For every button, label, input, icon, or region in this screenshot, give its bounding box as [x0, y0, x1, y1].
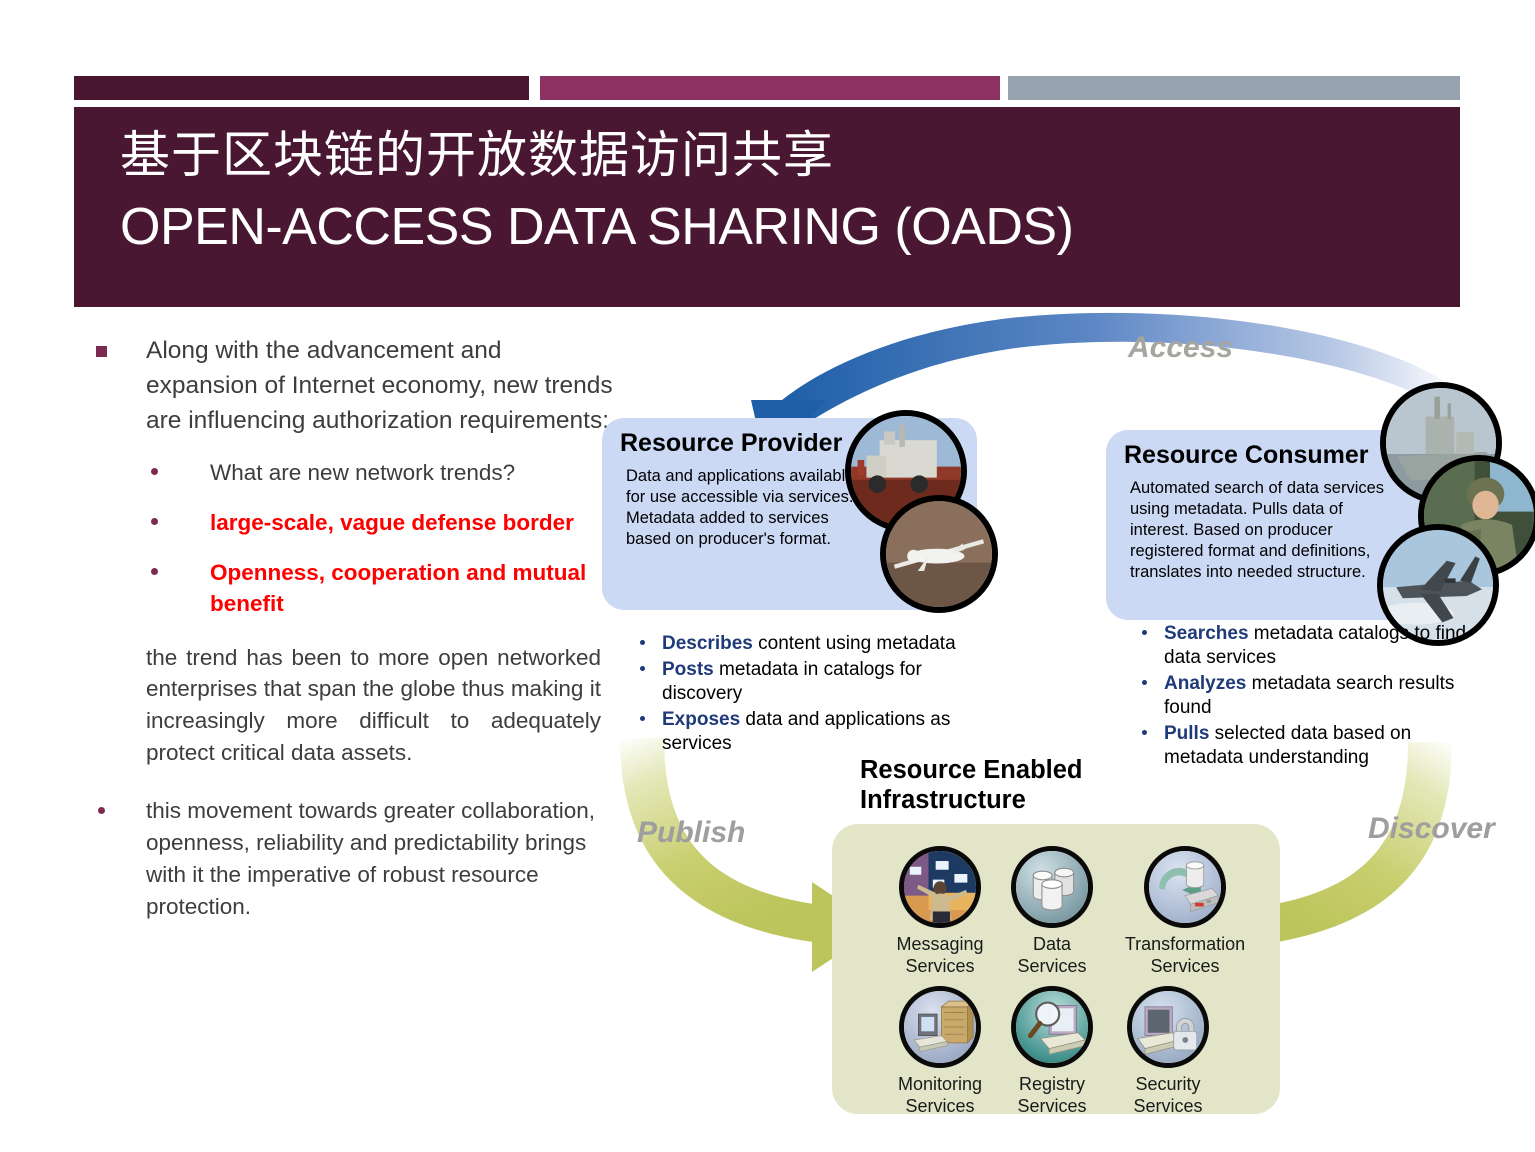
- bullet-last-text: this movement towards greater collaborat…: [146, 795, 618, 923]
- action-verb: Describes: [662, 633, 753, 654]
- infrastructure-title-line2: Infrastructure: [860, 786, 1160, 816]
- service-monitoring[interactable]: Monitoring Services: [892, 986, 988, 1117]
- sub-bullet-2-text: Openness, cooperation and mutual benefit: [210, 557, 618, 619]
- registry-search-icon: [1011, 986, 1093, 1068]
- action-verb: Pulls: [1164, 723, 1209, 744]
- action-verb: Posts: [662, 659, 714, 680]
- bullet-main-text: Along with the advancement and expansion…: [146, 334, 618, 438]
- flow-label-discover: Discover: [1368, 812, 1495, 846]
- service-label: Transformation Services: [1120, 934, 1250, 977]
- sub-bullet-2: Openness, cooperation and mutual benefit: [88, 557, 618, 619]
- bullet-main: Along with the advancement and expansion…: [88, 334, 618, 438]
- action-rest: content using metadata: [753, 633, 956, 654]
- resource-consumer-title: Resource Consumer: [1124, 441, 1369, 470]
- page-title-chinese: 基于区块链的开放数据访问共享: [120, 129, 834, 181]
- header-bar-3: [1008, 76, 1460, 100]
- security-lock-icon: [1127, 986, 1209, 1068]
- service-data[interactable]: Data Services: [1004, 846, 1100, 977]
- resource-provider-body: Data and applications available for use …: [626, 466, 856, 550]
- flow-label-publish: Publish: [637, 816, 745, 850]
- service-label: Registry Services: [1004, 1074, 1100, 1117]
- dot-bullet-icon: [151, 568, 158, 575]
- resource-consumer-body: Automated search of data services using …: [1130, 478, 1392, 584]
- bullet-last: this movement towards greater collaborat…: [88, 795, 618, 923]
- action-verb: Exposes: [662, 709, 740, 730]
- list-item: Searches metadata catalogs to find data …: [1134, 622, 1484, 670]
- dot-bullet-icon: [151, 468, 158, 475]
- left-text-column: Along with the advancement and expansion…: [88, 334, 618, 923]
- messaging-icon: [899, 846, 981, 928]
- dot-bullet-icon: [640, 666, 645, 671]
- paragraph-trend: the trend has been to more open networke…: [88, 642, 601, 770]
- transformation-icon: [1144, 846, 1226, 928]
- dot-bullet-icon: [1142, 630, 1147, 635]
- infrastructure-box: Messaging Services: [832, 824, 1280, 1114]
- flow-label-access: Access: [1128, 331, 1233, 365]
- header-bar-2: [540, 76, 1000, 100]
- infrastructure-title: Resource Enabled Infrastructure: [860, 756, 1160, 815]
- list-item: Exposes data and applications as service…: [632, 708, 982, 756]
- action-verb: Searches: [1164, 623, 1249, 644]
- dot-bullet-icon: [1142, 680, 1147, 685]
- infrastructure-title-line1: Resource Enabled: [860, 756, 1160, 786]
- sub-bullet-0-text: What are new network trends?: [210, 457, 618, 488]
- slide: 基于区块链的开放数据访问共享 OPEN-ACCESS DATA SHARING …: [0, 0, 1535, 1152]
- list-item: Pulls selected data based on metadata un…: [1134, 722, 1484, 770]
- header-bar-1: [74, 76, 529, 100]
- sub-bullet-1: large-scale, vague defense border: [88, 507, 618, 538]
- monitoring-icon: [899, 986, 981, 1068]
- dot-bullet-icon: [151, 518, 158, 525]
- list-item: Describes content using metadata: [632, 632, 982, 656]
- service-label: Messaging Services: [892, 934, 988, 977]
- service-label: Monitoring Services: [892, 1074, 988, 1117]
- service-security[interactable]: Security Services: [1120, 986, 1216, 1117]
- consumer-action-list: Searches metadata catalogs to find data …: [1134, 622, 1484, 772]
- action-verb: Analyzes: [1164, 673, 1246, 694]
- resource-provider-title: Resource Provider: [620, 429, 842, 458]
- page-title-english: OPEN-ACCESS DATA SHARING (OADS): [120, 199, 1073, 256]
- title-block: 基于区块链的开放数据访问共享 OPEN-ACCESS DATA SHARING …: [74, 107, 1460, 307]
- dot-bullet-icon: [640, 716, 645, 721]
- sub-bullet-1-text: large-scale, vague defense border: [210, 507, 618, 538]
- service-messaging[interactable]: Messaging Services: [892, 846, 988, 977]
- service-transformation[interactable]: Transformation Services: [1120, 846, 1250, 977]
- dot-bullet-icon: [98, 807, 105, 814]
- list-item: Analyzes metadata search results found: [1134, 672, 1484, 720]
- dot-bullet-icon: [1142, 730, 1147, 735]
- dot-bullet-icon: [640, 640, 645, 645]
- service-registry[interactable]: Registry Services: [1004, 986, 1100, 1117]
- database-icon: [1011, 846, 1093, 928]
- drone-aircraft-photo: [880, 495, 998, 613]
- provider-action-list: Describes content using metadata Posts m…: [632, 632, 982, 758]
- service-label: Security Services: [1120, 1074, 1216, 1117]
- sub-bullet-0: What are new network trends?: [88, 457, 618, 488]
- square-bullet-icon: [96, 346, 107, 357]
- service-label: Data Services: [1004, 934, 1100, 977]
- list-item: Posts metadata in catalogs for discovery: [632, 658, 982, 706]
